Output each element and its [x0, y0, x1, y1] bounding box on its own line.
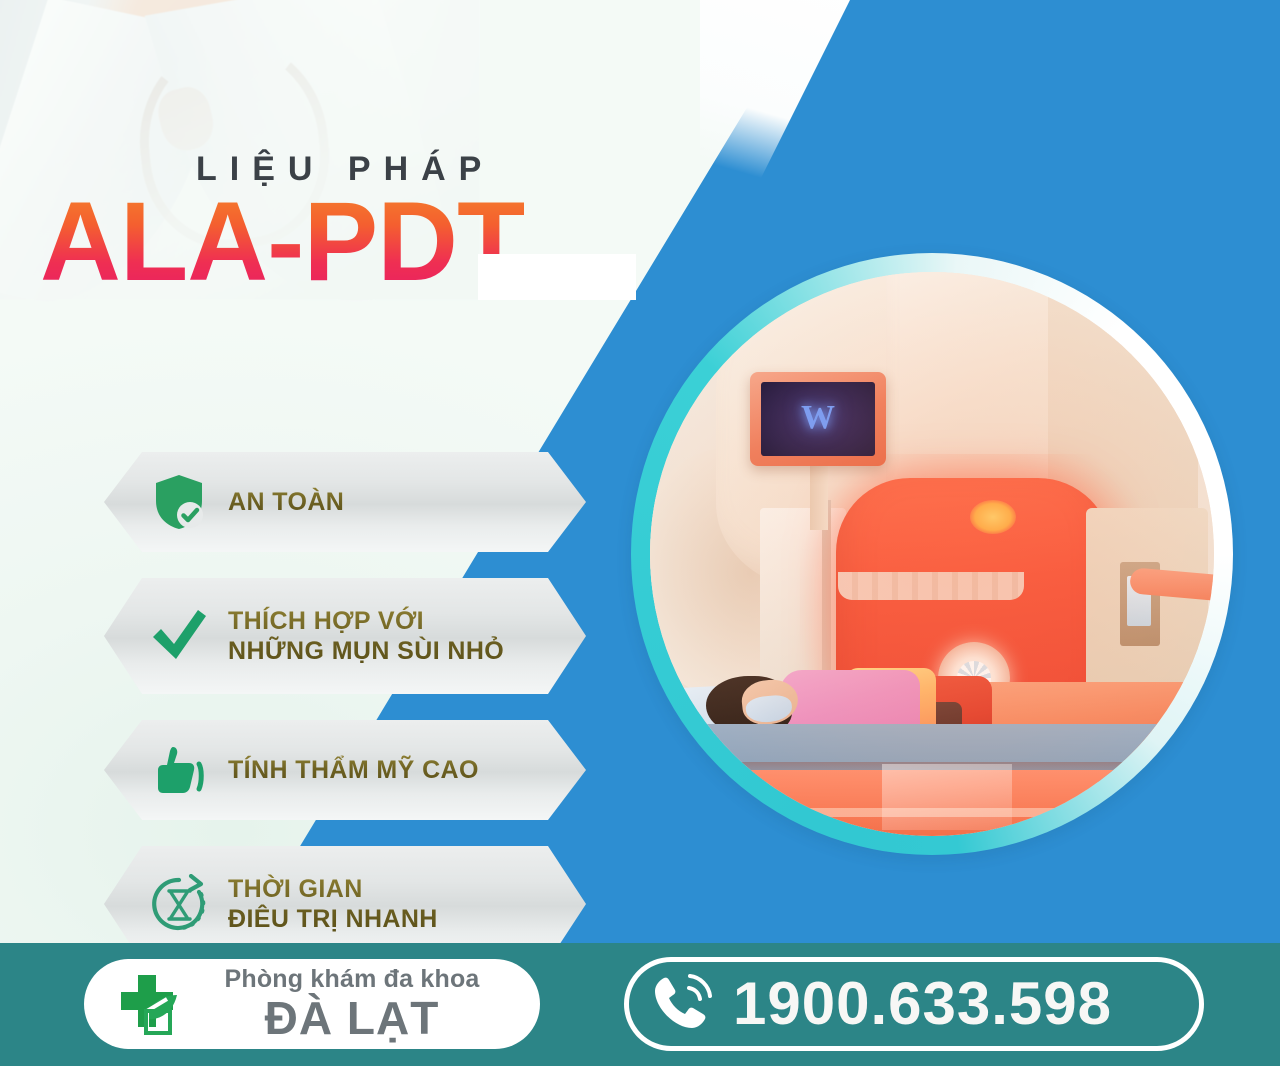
medical-cross-leaf-icon — [106, 962, 190, 1046]
redaction-block — [478, 254, 636, 300]
photo-clip: W — [650, 272, 1214, 836]
photo-warm-overlay — [650, 272, 1214, 836]
feature-badge-thich-hop[interactable]: THÍCH HỢP VỚI NHỮNG MỤN SÙI NHỎ — [104, 578, 586, 694]
shield-check-icon — [144, 467, 214, 537]
phone-cta[interactable]: 1900.633.598 — [624, 957, 1204, 1051]
hourglass-clock-icon — [144, 869, 214, 939]
phone-number: 1900.633.598 — [725, 974, 1112, 1034]
clinic-subtitle: Phòng khám đa khoa — [224, 966, 479, 994]
feature-list: AN TOÀN THÍCH HỢP VỚI NHỮNG MỤN SÙI NHỎ … — [104, 452, 594, 988]
feature-badge-an-toan[interactable]: AN TOÀN — [104, 452, 586, 552]
feature-label: AN TOÀN — [214, 487, 344, 518]
feature-label: THỜI GIAN ĐIÊU TRỊ NHANH — [214, 874, 438, 935]
feature-label: THÍCH HỢP VỚI NHỮNG MỤN SÙI NHỎ — [214, 606, 504, 667]
feature-badge-tham-my[interactable]: TÍNH THẨM MỸ CAO — [104, 720, 586, 820]
feature-label: TÍNH THẨM MỸ CAO — [214, 755, 479, 786]
clinic-name: Phòng khám đa khoa ĐÀ LẠT — [190, 966, 540, 1042]
poster-canvas: W LIỆU PHÁP ALA-PDT — [0, 0, 1280, 1066]
thumbs-up-icon — [144, 735, 214, 805]
footer-bar: Phòng khám đa khoa ĐÀ LẠT 1900.633.598 — [0, 943, 1280, 1066]
page-title: ALA-PDT — [40, 186, 524, 298]
treatment-photo: W — [631, 253, 1233, 855]
phone-call-icon — [645, 968, 725, 1040]
check-mark-icon — [144, 601, 214, 671]
clinic-title: ĐÀ LẠT — [265, 994, 440, 1042]
clinic-logo-pill[interactable]: Phòng khám đa khoa ĐÀ LẠT — [84, 959, 540, 1049]
